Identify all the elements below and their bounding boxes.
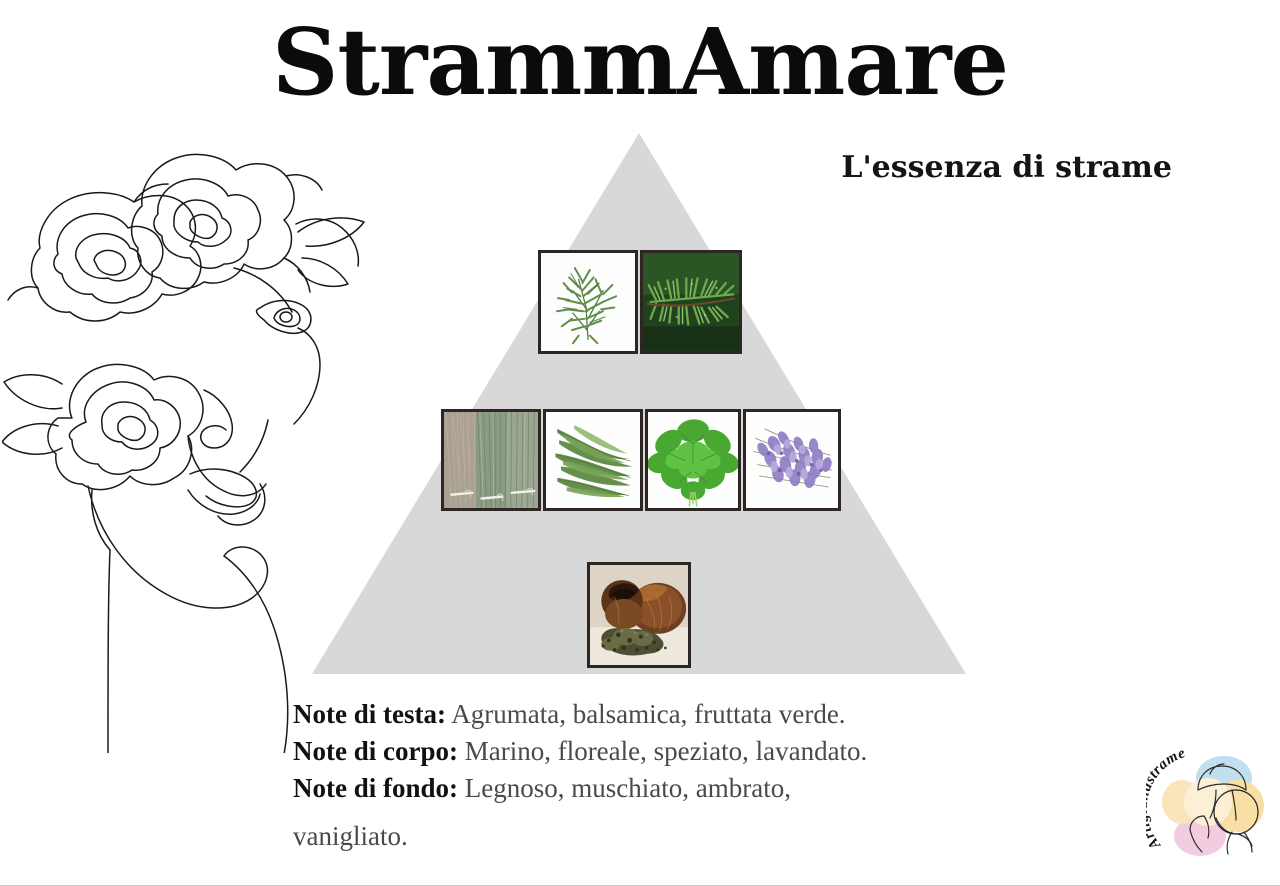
page-subtitle: L'essenza di strame	[841, 150, 1172, 185]
page-title: StrammAmare	[0, 14, 1280, 111]
note-line-base: Note di fondo: Legnoso, muschiato, ambra…	[293, 770, 1053, 807]
line-art-woman-with-peonies	[2, 128, 372, 753]
straw-bundles-photo	[441, 409, 541, 511]
fir-branch-photo	[640, 250, 742, 354]
note-value-top: Agrumata, balsamica, fruttata verde.	[446, 699, 846, 729]
note-label-top: Note di testa:	[293, 699, 446, 729]
note-continuation: vanigliato.	[293, 818, 1053, 855]
note-value-heart: Marino, floreale, speziato, lavandato.	[458, 736, 867, 766]
basil-photo	[645, 409, 741, 511]
fragrance-notes: Note di testa: Agrumata, balsamica, frut…	[293, 696, 1053, 855]
perfume-poster: StrammAmare L'essenza di strame Note di …	[0, 0, 1280, 886]
note-line-heart: Note di corpo: Marino, floreale, speziat…	[293, 733, 1053, 770]
note-label-heart: Note di corpo:	[293, 736, 458, 766]
note-line-top: Note di testa: Agrumata, balsamica, frut…	[293, 696, 1053, 733]
artigianastrame-logo: Artigianastrame	[1146, 744, 1270, 868]
lavender-photo	[743, 409, 841, 511]
rosemary-photo	[538, 250, 638, 354]
tarragon-photo	[543, 409, 643, 511]
note-label-base: Note di fondo:	[293, 773, 458, 803]
note-value-base: Legnoso, muschiato, ambrato,	[458, 773, 791, 803]
nutmeg-photo	[587, 562, 691, 668]
